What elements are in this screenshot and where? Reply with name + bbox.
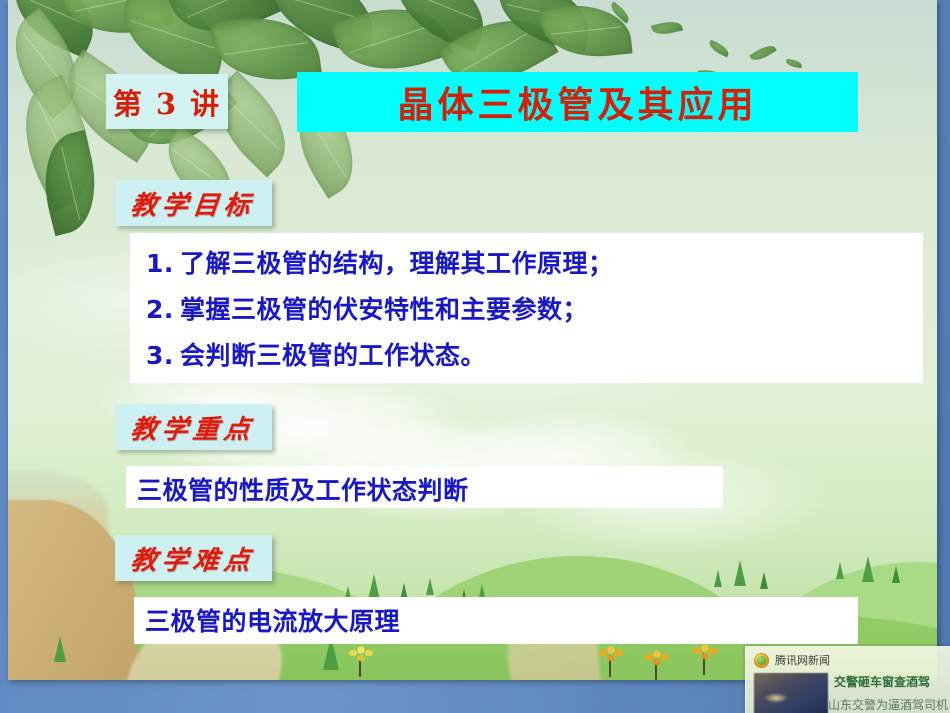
list-item: 1.了解三极管的结构，理解其工作原理； [146,241,916,287]
section-chip-difficult-points-label: 教学难点 [130,540,258,577]
news-thumbnail-image[interactable] [754,673,828,713]
slide-title-banner: 晶体三极管及其应用 [297,72,858,132]
objective-text: 会判断三极管的工作状态。 [180,341,486,370]
background-tree [426,578,434,595]
objective-text: 了解三极管的结构，理解其工作原理； [180,249,614,278]
background-tree [734,560,746,586]
background-tree [760,572,768,589]
objective-text: 掌握三极管的伏安特性和主要参数； [180,295,588,324]
slide-canvas: 第 3 讲 晶体三极管及其应用 教学目标 1.了解三极管的结构，理解其工作原理；… [8,0,937,680]
background-tree [892,566,900,583]
list-item: 2.掌握三极管的伏安特性和主要参数； [146,287,916,333]
news-subheadline[interactable]: 山东交警为逼酒驾司机 [828,696,948,713]
objectives-list: 1.了解三极管的结构，理解其工作原理； 2.掌握三极管的伏安特性和主要参数； 3… [146,241,916,379]
background-flower [644,650,670,676]
tencent-news-popup[interactable]: 腾讯网新闻 交警砸车窗查酒驾 山东交警为逼酒驾司机 [745,646,950,713]
lesson-number-chip: 第 3 讲 [106,74,228,129]
section-chip-difficult-points: 教学难点 [115,535,272,581]
key-points-text: 三极管的性质及工作状态判断 [137,471,469,507]
objective-number: 1. [146,241,180,287]
section-chip-objectives: 教学目标 [115,180,272,226]
presentation-viewer-frame: 第 3 讲 晶体三极管及其应用 教学目标 1.了解三极管的结构，理解其工作原理；… [0,0,950,713]
section-chip-key-points-label: 教学重点 [130,409,258,446]
background-tree [836,562,844,579]
news-popup-header: 腾讯网新闻 [754,652,830,668]
objective-number: 2. [146,287,180,333]
background-tree [862,556,874,582]
background-tree [54,636,66,662]
difficult-points-text: 三极管的电流放大原理 [145,602,400,638]
background-flower [598,646,624,672]
background-tree [714,570,722,587]
background-flower [348,646,374,672]
news-brand-label: 腾讯网新闻 [775,652,830,668]
list-item: 3.会判断三极管的工作状态。 [146,333,916,379]
news-headline[interactable]: 交警砸车窗查酒驾 [834,673,930,690]
tencent-logo-icon [754,653,769,668]
page-title: 晶体三极管及其应用 [397,76,757,128]
section-chip-key-points: 教学重点 [115,404,272,450]
background-flower [692,644,718,670]
lesson-number-label: 第 3 讲 [113,81,221,123]
objective-number: 3. [146,333,180,379]
section-chip-objectives-label: 教学目标 [130,185,258,222]
